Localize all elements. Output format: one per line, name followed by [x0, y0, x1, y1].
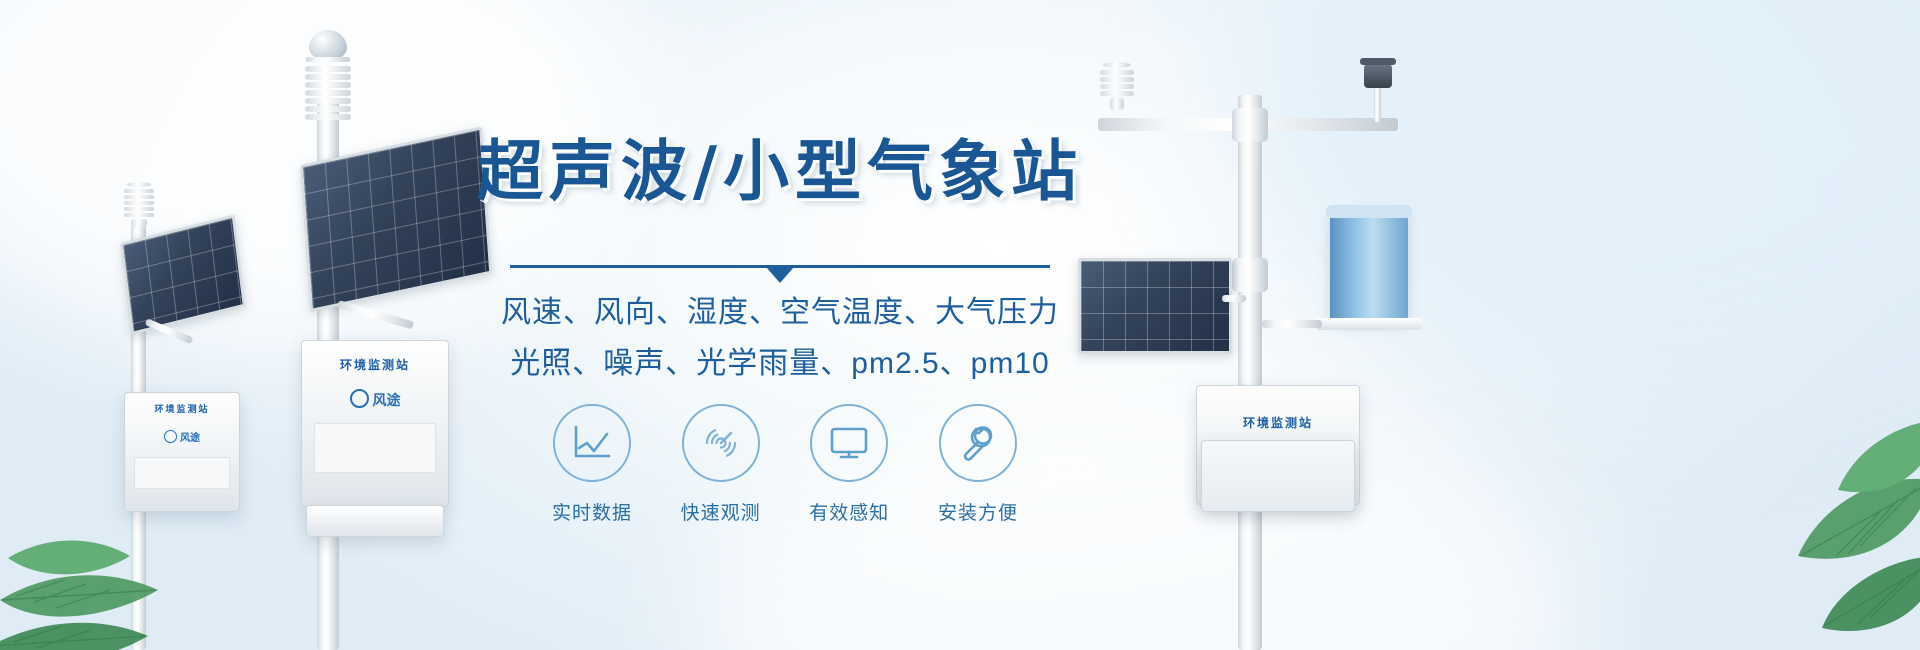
- monitor-icon: [828, 424, 870, 462]
- line-chart-icon: [571, 424, 613, 462]
- anemometer-head: [1364, 64, 1392, 88]
- feature-label: 有效感知: [809, 498, 889, 525]
- feature-item-easy-install[interactable]: 安装方便: [926, 404, 1030, 525]
- rain-gauge-rim: [1326, 205, 1412, 218]
- feature-label: 实时数据: [552, 498, 632, 525]
- rain-gauge-body: [1330, 210, 1408, 322]
- right-mast-collar: [1232, 108, 1268, 142]
- feature-label: 安装方便: [938, 498, 1018, 525]
- rain-gauge-shelf: [1316, 318, 1422, 330]
- feature-item-fast-observation[interactable]: 快速观测: [669, 404, 773, 525]
- right-cabinet-label: 环境监测站: [1197, 414, 1359, 431]
- center-cabinet-brand: 风途: [302, 389, 448, 410]
- right-station-mast: [1238, 95, 1262, 650]
- left-station-cabinet: 环境监测站 风途: [124, 392, 240, 512]
- center-radiation-shield: [305, 66, 351, 122]
- subtitle-line-1: 风速、风向、湿度、空气温度、大气压力: [440, 287, 1120, 331]
- center-dome-sensor: [309, 30, 347, 60]
- wrench-icon: [957, 422, 999, 464]
- feature-circle: [939, 404, 1017, 482]
- banner-text-block: 超声波/小型气象站 风速、风向、湿度、空气温度、大气压力 光照、噪声、光学雨量、…: [440, 0, 1120, 650]
- center-dome-base: [306, 57, 350, 62]
- anemometer-stem: [1374, 86, 1381, 122]
- left-cabinet-panel: [134, 457, 230, 489]
- product-banner: 环境监测站 风途 环境监测站 风途: [0, 0, 1920, 650]
- feature-list: 实时数据 快速观测: [540, 404, 1030, 525]
- subtitle-line-2: 光照、噪声、光学雨量、pm2.5、pm10: [440, 338, 1120, 382]
- right-mast-collar-lower: [1232, 258, 1268, 292]
- page-title: 超声波/小型气象站: [440, 118, 1120, 214]
- radar-observation-icon: [700, 422, 742, 464]
- brand-mark-icon: [350, 389, 369, 408]
- feature-item-realtime-data[interactable]: 实时数据: [540, 404, 644, 525]
- feature-circle: [810, 404, 888, 482]
- feature-label: 快速观测: [681, 498, 761, 525]
- left-ultrasonic-sensor: [124, 182, 154, 229]
- right-panel-arm: [1222, 295, 1246, 302]
- brand-mark-icon: [164, 430, 177, 443]
- right-cabinet-lower: [1201, 440, 1355, 512]
- center-station-cabinet: 环境监测站 风途: [301, 340, 449, 507]
- feature-item-effective-sensing[interactable]: 有效感知: [797, 404, 901, 525]
- center-cabinet-base: [306, 505, 444, 537]
- title-divider: [510, 265, 1050, 268]
- center-cabinet-label: 环境监测站: [302, 356, 448, 373]
- feature-circle: [682, 404, 760, 482]
- leaf-decoration-right: [1640, 360, 1920, 650]
- center-cabinet-panel: [314, 423, 437, 473]
- anemometer-vane: [1360, 58, 1396, 65]
- feature-circle: [553, 404, 631, 482]
- left-cabinet-label: 环境监测站: [125, 402, 239, 415]
- left-cabinet-brand: 风途: [125, 429, 239, 444]
- rain-gauge-arm: [1262, 320, 1322, 328]
